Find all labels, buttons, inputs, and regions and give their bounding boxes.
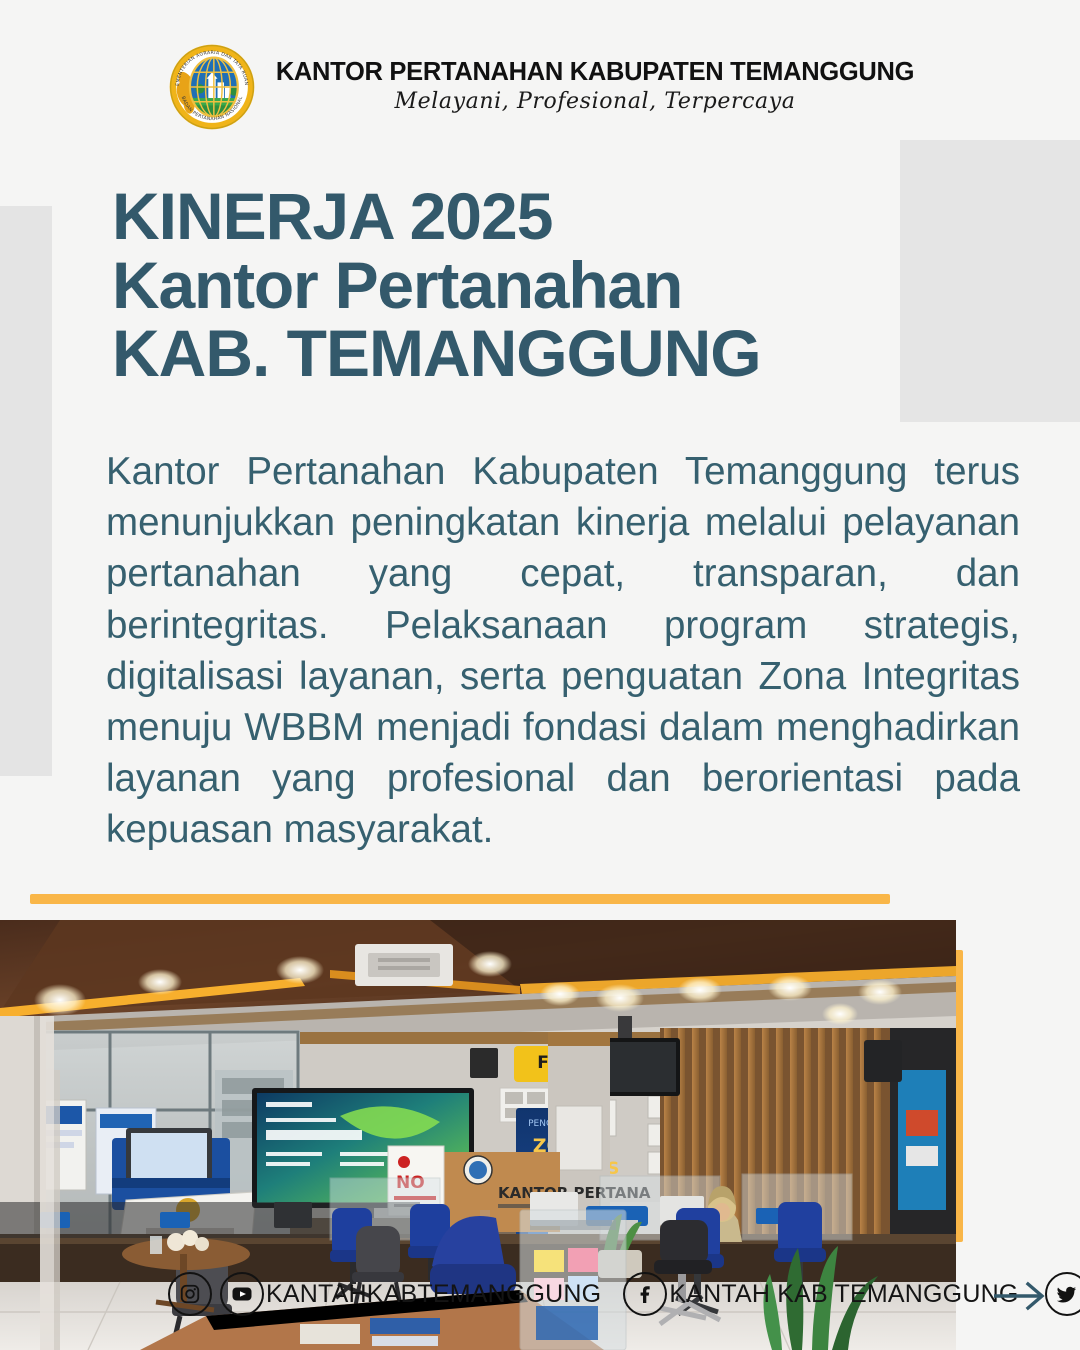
social-handle-instagram-youtube[interactable]: KANTAHKABTEMANGGUNG <box>266 1280 601 1309</box>
social-group-instagram-youtube: KANTAHKABTEMANGGUNG <box>168 1272 601 1316</box>
social-handle-facebook[interactable]: KANTAH KAB TEMANGGUNG <box>669 1280 1018 1309</box>
social-media-bar: KANTAHKABTEMANGGUNG KANTAH KAB TEMANGGUN… <box>168 1268 938 1320</box>
header: KEMENTERIAN AGRARIA DAN TATA RUANG BADAN… <box>0 34 1080 139</box>
twitter-icon[interactable] <box>1045 1272 1080 1316</box>
body-paragraph: Kantor Pertanahan Kabupaten Temanggung t… <box>106 446 1020 856</box>
bpn-logo-icon: KEMENTERIAN AGRARIA DAN TATA RUANG BADAN… <box>166 41 258 133</box>
facebook-icon[interactable] <box>623 1272 667 1316</box>
social-group-twitter: KANTAHTMG <box>1045 1272 1080 1316</box>
decorative-gray-block-right <box>900 140 1080 422</box>
instagram-icon[interactable] <box>168 1272 212 1316</box>
youtube-icon[interactable] <box>220 1272 264 1316</box>
title-line-2: Kantor Pertanahan <box>112 251 892 320</box>
decorative-gray-block-left <box>0 206 52 776</box>
page-title: KINERJA 2025 Kantor Pertanahan KAB. TEMA… <box>112 182 892 388</box>
organization-tagline: Melayani, Profesional, Terpercaya <box>395 90 796 114</box>
header-text: KANTOR PERTANAHAN KABUPATEN TEMANGGUNG M… <box>276 58 914 114</box>
title-line-3: KAB. TEMANGGUNG <box>112 319 892 388</box>
organization-name: KANTOR PERTANAHAN KABUPATEN TEMANGGUNG <box>276 58 914 86</box>
next-slide-arrow-icon[interactable] <box>992 1281 1048 1311</box>
decorative-orange-bar-top <box>30 894 890 904</box>
title-line-1: KINERJA 2025 <box>112 182 892 251</box>
social-group-facebook: KANTAH KAB TEMANGGUNG <box>623 1272 1018 1316</box>
